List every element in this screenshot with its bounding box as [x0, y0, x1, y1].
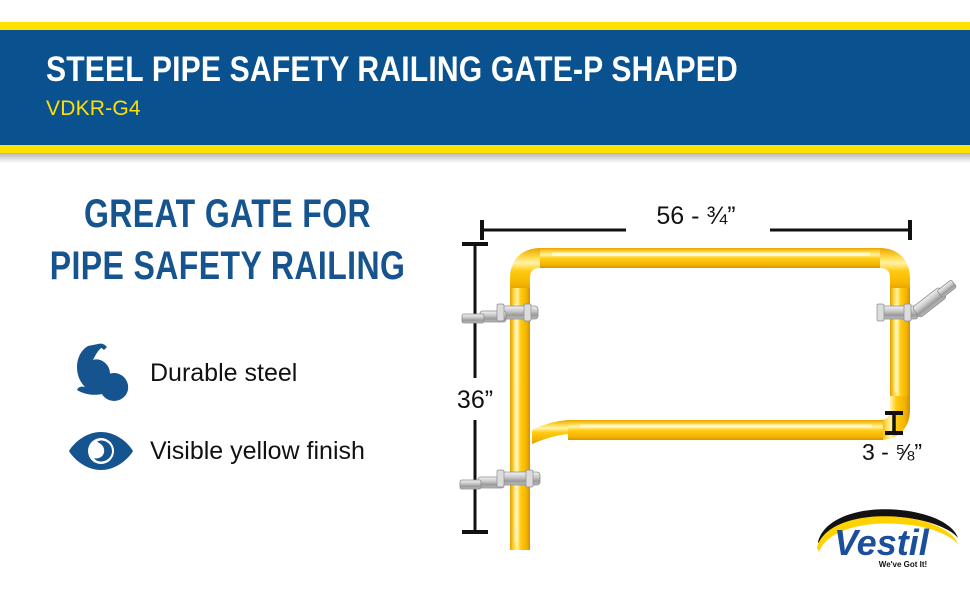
dimension-depth-label: 3 - ⅝”	[862, 439, 922, 465]
dimension-height-label: 36”	[457, 386, 493, 414]
header-top-rule	[0, 22, 970, 30]
feature-list: Durable steel Visible yellow finish	[0, 334, 455, 490]
feature-label-durable-steel: Durable steel	[140, 359, 297, 388]
header-banner: STEEL PIPE SAFETY RAILING GATE-P SHAPED …	[0, 22, 970, 163]
eye-icon	[62, 428, 140, 474]
feature-label-visible-finish: Visible yellow finish	[140, 437, 365, 466]
header-drop-shadow	[0, 153, 970, 163]
header-band: STEEL PIPE SAFETY RAILING GATE-P SHAPED …	[0, 30, 970, 145]
headline-line-2: PIPE SAFETY RAILING	[46, 240, 410, 292]
left-content-column: GREAT GATE FOR PIPE SAFETY RAILING Durab…	[0, 188, 455, 588]
gate-frame	[510, 248, 910, 550]
dimension-width-label: 56 - ¾”	[656, 202, 735, 230]
product-diagram: 56 - ¾” 36”	[440, 180, 970, 560]
feature-item-visible-finish: Visible yellow finish	[62, 412, 455, 490]
header-bottom-rule	[0, 145, 970, 153]
page-title: STEEL PIPE SAFETY RAILING GATE-P SHAPED	[46, 52, 841, 87]
logo-brand-text: Vestil	[834, 522, 930, 563]
mounting-bracket-lower-left	[460, 470, 540, 489]
headline-line-1: GREAT GATE FOR	[46, 188, 410, 240]
vestil-logo: Vestil We've Got It!	[808, 508, 960, 572]
feature-item-durable-steel: Durable steel	[62, 334, 455, 412]
model-number: VDKR-G4	[46, 98, 970, 119]
logo-tagline: We've Got It!	[879, 560, 927, 569]
mounting-bracket-upper-left	[462, 304, 538, 323]
mounting-bracket-upper-right	[877, 278, 958, 321]
flexed-bicep-icon	[62, 342, 140, 404]
